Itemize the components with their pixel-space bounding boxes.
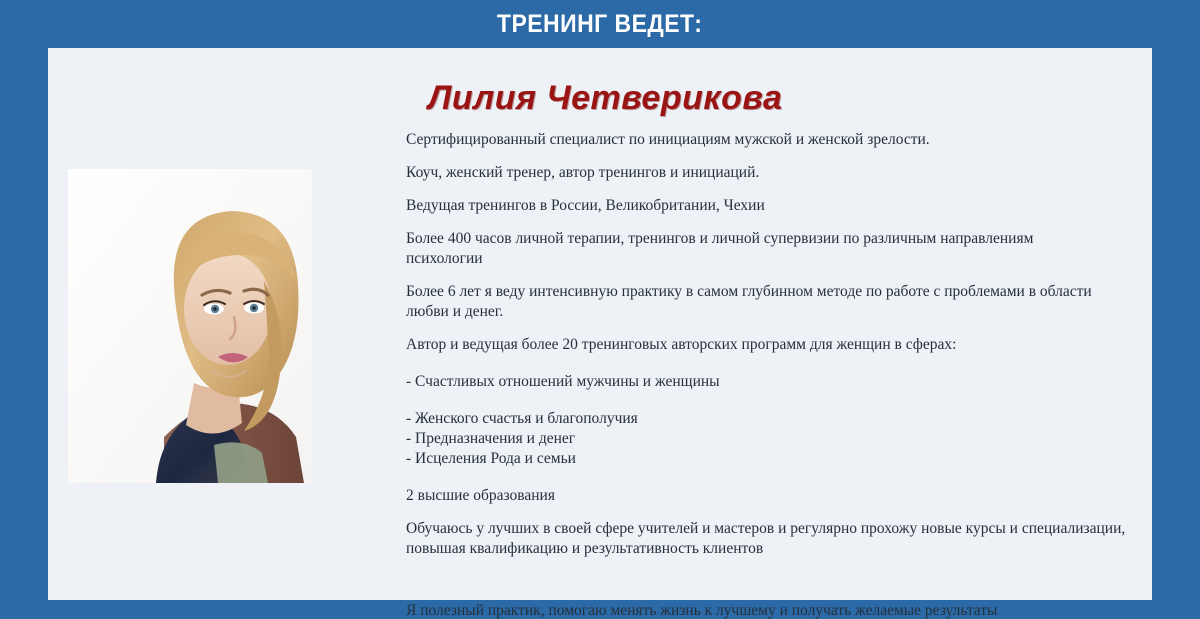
header-band: ТРЕНИНГ ВЕДЕТ: <box>0 0 1200 48</box>
bio-line-hours: Более 400 часов личной терапии, тренинго… <box>406 229 1106 269</box>
bio-line-certification: Сертифицированный специалист по инициаци… <box>406 130 1141 150</box>
profile-text-column: Лилия Четверикова Сертифицированный спец… <box>406 64 1146 600</box>
bio-line-practice-years: Более 6 лет я веду интенсивную практику … <box>406 282 1106 322</box>
content-panel: Лилия Четверикова Сертифицированный спец… <box>48 48 1152 600</box>
bio-line-ongoing-study: Обучаюсь у лучших в своей сфере учителей… <box>406 519 1141 559</box>
bio-line-closing: Я полезный практик, помогаю менять жизнь… <box>406 601 1141 619</box>
bio-line-countries: Ведущая тренингов в России, Великобритан… <box>406 196 1106 216</box>
bio-list-item-relationships: - Счастливых отношений мужчины и женщины <box>406 372 1106 392</box>
portrait-illustration <box>68 169 312 483</box>
bio-list-item-purpose-money: - Предназначения и денег <box>406 429 1106 449</box>
bio-list-item-happiness: - Женского счастья и благополучия <box>406 409 1106 429</box>
trainer-photo <box>68 169 312 483</box>
slide-root: ТРЕНИНГ ВЕДЕТ: <box>0 0 1200 619</box>
bio-line-coach: Коуч, женский тренер, автор тренингов и … <box>406 163 1106 183</box>
bio-line-programs: Автор и ведущая более 20 тренинговых авт… <box>406 335 1106 355</box>
bio-list-item-family-healing: - Исцеления Рода и семьи <box>406 449 1106 469</box>
page-title: ТРЕНИНГ ВЕДЕТ: <box>497 12 702 37</box>
portrait-image <box>68 169 312 483</box>
person-name: Лилия Четверикова <box>428 80 1146 117</box>
bio-line-education: 2 высшие образования <box>406 486 1106 506</box>
